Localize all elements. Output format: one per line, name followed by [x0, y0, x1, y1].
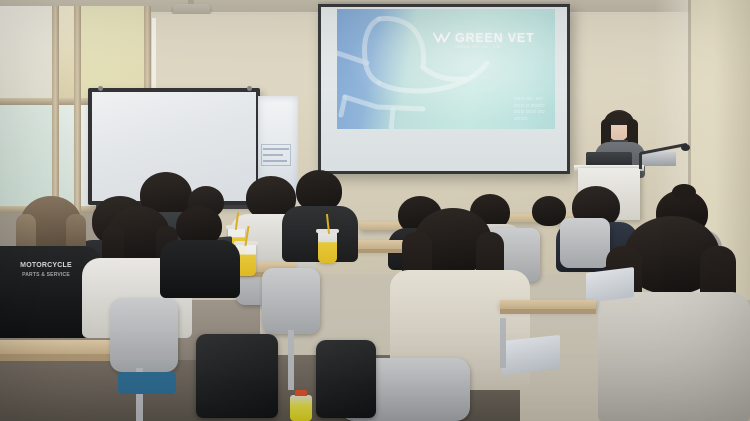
backpack-right — [316, 340, 376, 418]
wall-pane — [0, 102, 58, 210]
slide-logo: GREEN VET — [433, 31, 534, 45]
chair-front-left — [110, 298, 178, 372]
whiteboard-knob-right — [247, 86, 252, 91]
microphone-stem — [639, 153, 642, 169]
hair-bun — [672, 184, 696, 200]
slide-logo-subtitle: GREEN VET CO., LTD. — [455, 45, 502, 49]
bottle-cap — [295, 390, 307, 396]
green-vet-logo-icon — [433, 32, 451, 44]
office-chair-artwork — [337, 11, 517, 129]
slide-footer-line: OOOO — [514, 116, 545, 123]
podium-side-equipment — [642, 152, 676, 166]
chair-mid — [262, 268, 320, 334]
microphone-head — [681, 144, 690, 151]
tablet-center — [502, 335, 560, 375]
wall-pane — [0, 6, 58, 102]
desk-front — [0, 340, 120, 354]
laptop-right — [586, 267, 634, 303]
whiteboard-knob-left — [98, 86, 103, 91]
hoodie-graphic-line1: MOTORCYCLE — [2, 262, 90, 271]
desk-right — [500, 300, 596, 309]
slide-footer-line: OOO OO. OO — [514, 96, 545, 103]
beverage-bottle — [290, 395, 312, 421]
iced-drink-cup-right — [318, 232, 337, 263]
classroom-photograph: GREEN VET GREEN VET CO., LTD. OOO OO. OO… — [0, 0, 750, 421]
hoodie-graphic-line2: PARTS & SERVICE — [2, 272, 90, 278]
presentation-slide: GREEN VET GREEN VET CO., LTD. OOO OO. OO… — [337, 9, 555, 129]
slide-logo-text: GREEN VET — [455, 31, 534, 45]
chair — [560, 218, 610, 268]
backpack-center — [196, 334, 278, 418]
slide-footer: OOO OO. OO OOO O OOOO OOO OOO OO OOOO — [514, 96, 545, 122]
slide-footer-line: OOO OOO OO — [514, 109, 545, 116]
